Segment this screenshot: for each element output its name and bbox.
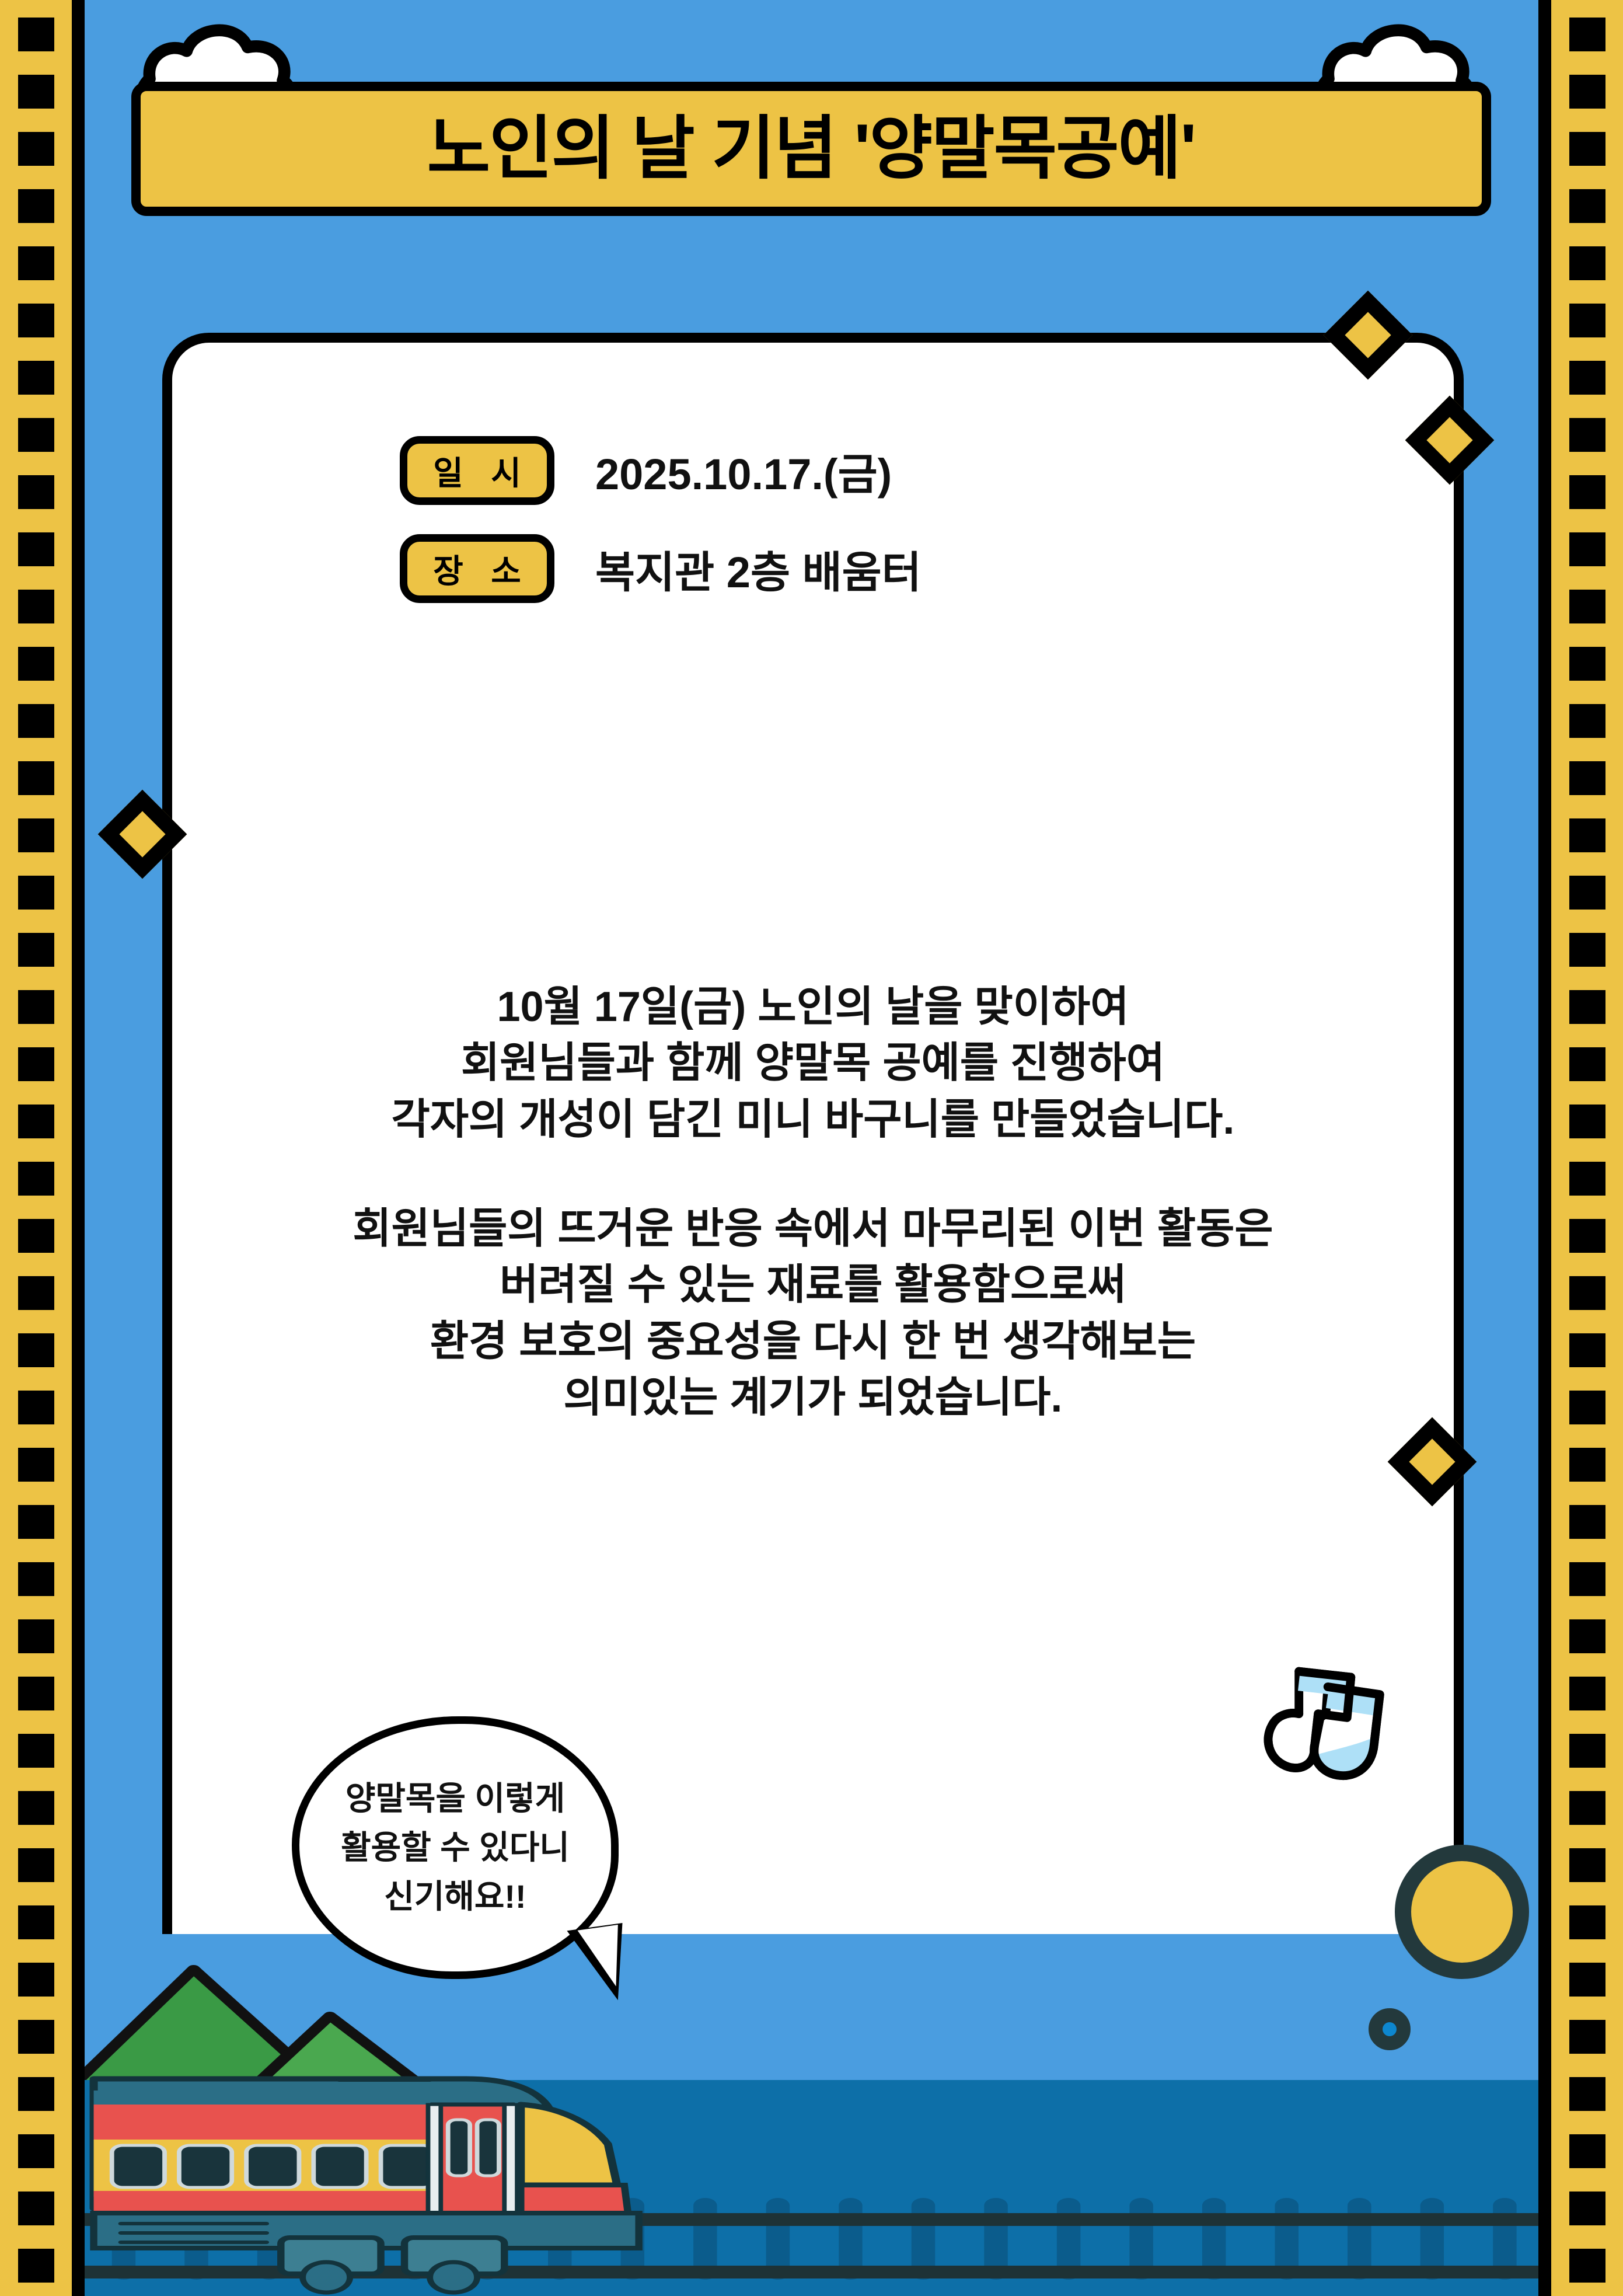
film-hole bbox=[18, 1333, 54, 1367]
socks-icon bbox=[1243, 1658, 1436, 1851]
paragraph-two: 회원님들의 뜨거운 반응 속에서 마무리된 이번 활동은 버려질 수 있는 재료… bbox=[172, 1201, 1454, 1426]
film-hole bbox=[1569, 2192, 1605, 2225]
film-hole bbox=[1569, 933, 1605, 967]
film-hole bbox=[1569, 1162, 1605, 1196]
title-bar: 노인의 날 기념 '양말목공예' bbox=[131, 82, 1491, 216]
film-hole bbox=[1569, 1047, 1605, 1081]
circle-decoration-icon bbox=[1369, 2008, 1411, 2050]
film-hole bbox=[18, 418, 54, 452]
film-hole bbox=[18, 2134, 54, 2168]
film-hole bbox=[18, 2077, 54, 2111]
film-strip-left bbox=[0, 0, 85, 2296]
circle-decoration-icon bbox=[1395, 1845, 1529, 1979]
paragraph-line: 버려질 수 있는 재료를 활용함으로써 bbox=[172, 1257, 1454, 1313]
film-hole bbox=[1569, 1219, 1605, 1253]
label-place: 장 소 bbox=[400, 534, 554, 603]
film-hole bbox=[1569, 304, 1605, 337]
film-hole bbox=[18, 704, 54, 738]
film-hole bbox=[18, 876, 54, 910]
film-hole bbox=[18, 246, 54, 280]
film-hole bbox=[1569, 1448, 1605, 1482]
film-hole bbox=[1569, 1276, 1605, 1310]
film-hole bbox=[18, 1963, 54, 1997]
film-hole bbox=[1569, 818, 1605, 852]
film-hole bbox=[18, 2020, 54, 2054]
film-hole bbox=[1569, 1391, 1605, 1424]
film-hole bbox=[18, 1276, 54, 1310]
film-hole bbox=[1569, 2020, 1605, 2054]
paragraph-line: 회원님들의 뜨거운 반응 속에서 마무리된 이번 활동은 bbox=[172, 1201, 1454, 1257]
film-hole bbox=[18, 1505, 54, 1539]
film-hole bbox=[1569, 1619, 1605, 1653]
speech-bubble-tail bbox=[567, 1923, 633, 2006]
film-hole bbox=[1569, 761, 1605, 795]
film-hole bbox=[18, 361, 54, 395]
film-hole bbox=[1569, 2134, 1605, 2168]
film-hole bbox=[18, 475, 54, 509]
paragraph-line: 의미있는 계기가 되었습니다. bbox=[172, 1370, 1454, 1426]
film-hole bbox=[1569, 876, 1605, 910]
film-hole bbox=[1569, 1505, 1605, 1539]
film-hole bbox=[18, 75, 54, 109]
film-hole bbox=[18, 2192, 54, 2225]
film-hole bbox=[1569, 75, 1605, 109]
film-hole bbox=[18, 132, 54, 166]
speech-line: 신기해요!! bbox=[341, 1872, 570, 1921]
paragraph-line: 환경 보호의 중요성을 다시 한 번 생각해보는 bbox=[172, 1314, 1454, 1370]
film-hole bbox=[18, 1848, 54, 1882]
film-hole bbox=[18, 1734, 54, 1768]
film-hole bbox=[18, 1905, 54, 1939]
film-hole bbox=[18, 1791, 54, 1825]
film-hole bbox=[18, 761, 54, 795]
poster-root: 노인의 날 기념 '양말목공예' 일 시 2025.10.17.(금) 장 소 … bbox=[0, 0, 1623, 2296]
film-hole bbox=[1569, 1791, 1605, 1825]
film-hole bbox=[1569, 1963, 1605, 1997]
paragraph-line: 회원님들과 함께 양말목 공예를 진행하여 bbox=[172, 1035, 1454, 1091]
film-hole bbox=[18, 1105, 54, 1138]
film-hole bbox=[18, 647, 54, 681]
film-hole bbox=[18, 1619, 54, 1653]
film-hole bbox=[18, 304, 54, 337]
film-hole bbox=[1569, 475, 1605, 509]
title-banner: 노인의 날 기념 '양말목공예' bbox=[131, 47, 1491, 216]
film-hole bbox=[18, 189, 54, 223]
film-hole bbox=[1569, 1105, 1605, 1138]
value-date: 2025.10.17.(금) bbox=[595, 440, 892, 502]
speech-line: 활용할 수 있다니 bbox=[341, 1823, 570, 1872]
paragraph-one: 10월 17일(금) 노인의 날을 맞이하여 회원님들과 함께 양말목 공예를 … bbox=[172, 979, 1454, 1148]
film-hole bbox=[1569, 1677, 1605, 1710]
film-hole bbox=[1569, 1848, 1605, 1882]
film-hole bbox=[1569, 246, 1605, 280]
film-hole bbox=[18, 1219, 54, 1253]
film-hole bbox=[1569, 1333, 1605, 1367]
film-hole bbox=[1569, 1562, 1605, 1596]
film-hole bbox=[1569, 132, 1605, 166]
value-place: 복지관 2층 배움터 bbox=[595, 538, 922, 600]
page-title: 노인의 날 기념 '양말목공예' bbox=[427, 114, 1196, 183]
film-hole bbox=[1569, 704, 1605, 738]
paragraph-line: 10월 17일(금) 노인의 날을 맞이하여 bbox=[172, 979, 1454, 1035]
film-hole bbox=[18, 2249, 54, 2283]
film-hole bbox=[1569, 532, 1605, 566]
info-row-date: 일 시 2025.10.17.(금) bbox=[400, 436, 1392, 505]
paragraph-line: 각자의 개성이 담긴 미니 바구니를 만들었습니다. bbox=[172, 1092, 1454, 1148]
film-hole bbox=[18, 532, 54, 566]
film-hole bbox=[18, 1162, 54, 1196]
info-block: 일 시 2025.10.17.(금) 장 소 복지관 2층 배움터 bbox=[400, 436, 1392, 632]
film-hole bbox=[1569, 990, 1605, 1024]
film-hole bbox=[18, 590, 54, 623]
film-hole bbox=[18, 1391, 54, 1424]
info-row-place: 장 소 복지관 2층 배움터 bbox=[400, 534, 1392, 603]
film-hole bbox=[18, 1448, 54, 1482]
film-hole bbox=[18, 990, 54, 1024]
film-hole bbox=[1569, 361, 1605, 395]
speech-line: 양말목을 이렇게 bbox=[341, 1774, 570, 1823]
film-hole bbox=[1569, 418, 1605, 452]
film-hole bbox=[18, 1562, 54, 1596]
film-hole bbox=[1569, 2249, 1605, 2283]
label-date: 일 시 bbox=[400, 436, 554, 505]
film-hole bbox=[1569, 590, 1605, 623]
film-hole bbox=[1569, 1905, 1605, 1939]
film-hole bbox=[18, 1677, 54, 1710]
film-hole bbox=[1569, 189, 1605, 223]
film-hole bbox=[18, 1047, 54, 1081]
film-hole bbox=[1569, 2077, 1605, 2111]
film-hole bbox=[18, 818, 54, 852]
film-hole bbox=[1569, 647, 1605, 681]
film-hole bbox=[1569, 18, 1605, 51]
film-strip-right bbox=[1538, 0, 1623, 2296]
film-hole bbox=[1569, 1734, 1605, 1768]
film-hole bbox=[18, 933, 54, 967]
train-icon bbox=[85, 1934, 1538, 2296]
film-hole bbox=[18, 18, 54, 51]
